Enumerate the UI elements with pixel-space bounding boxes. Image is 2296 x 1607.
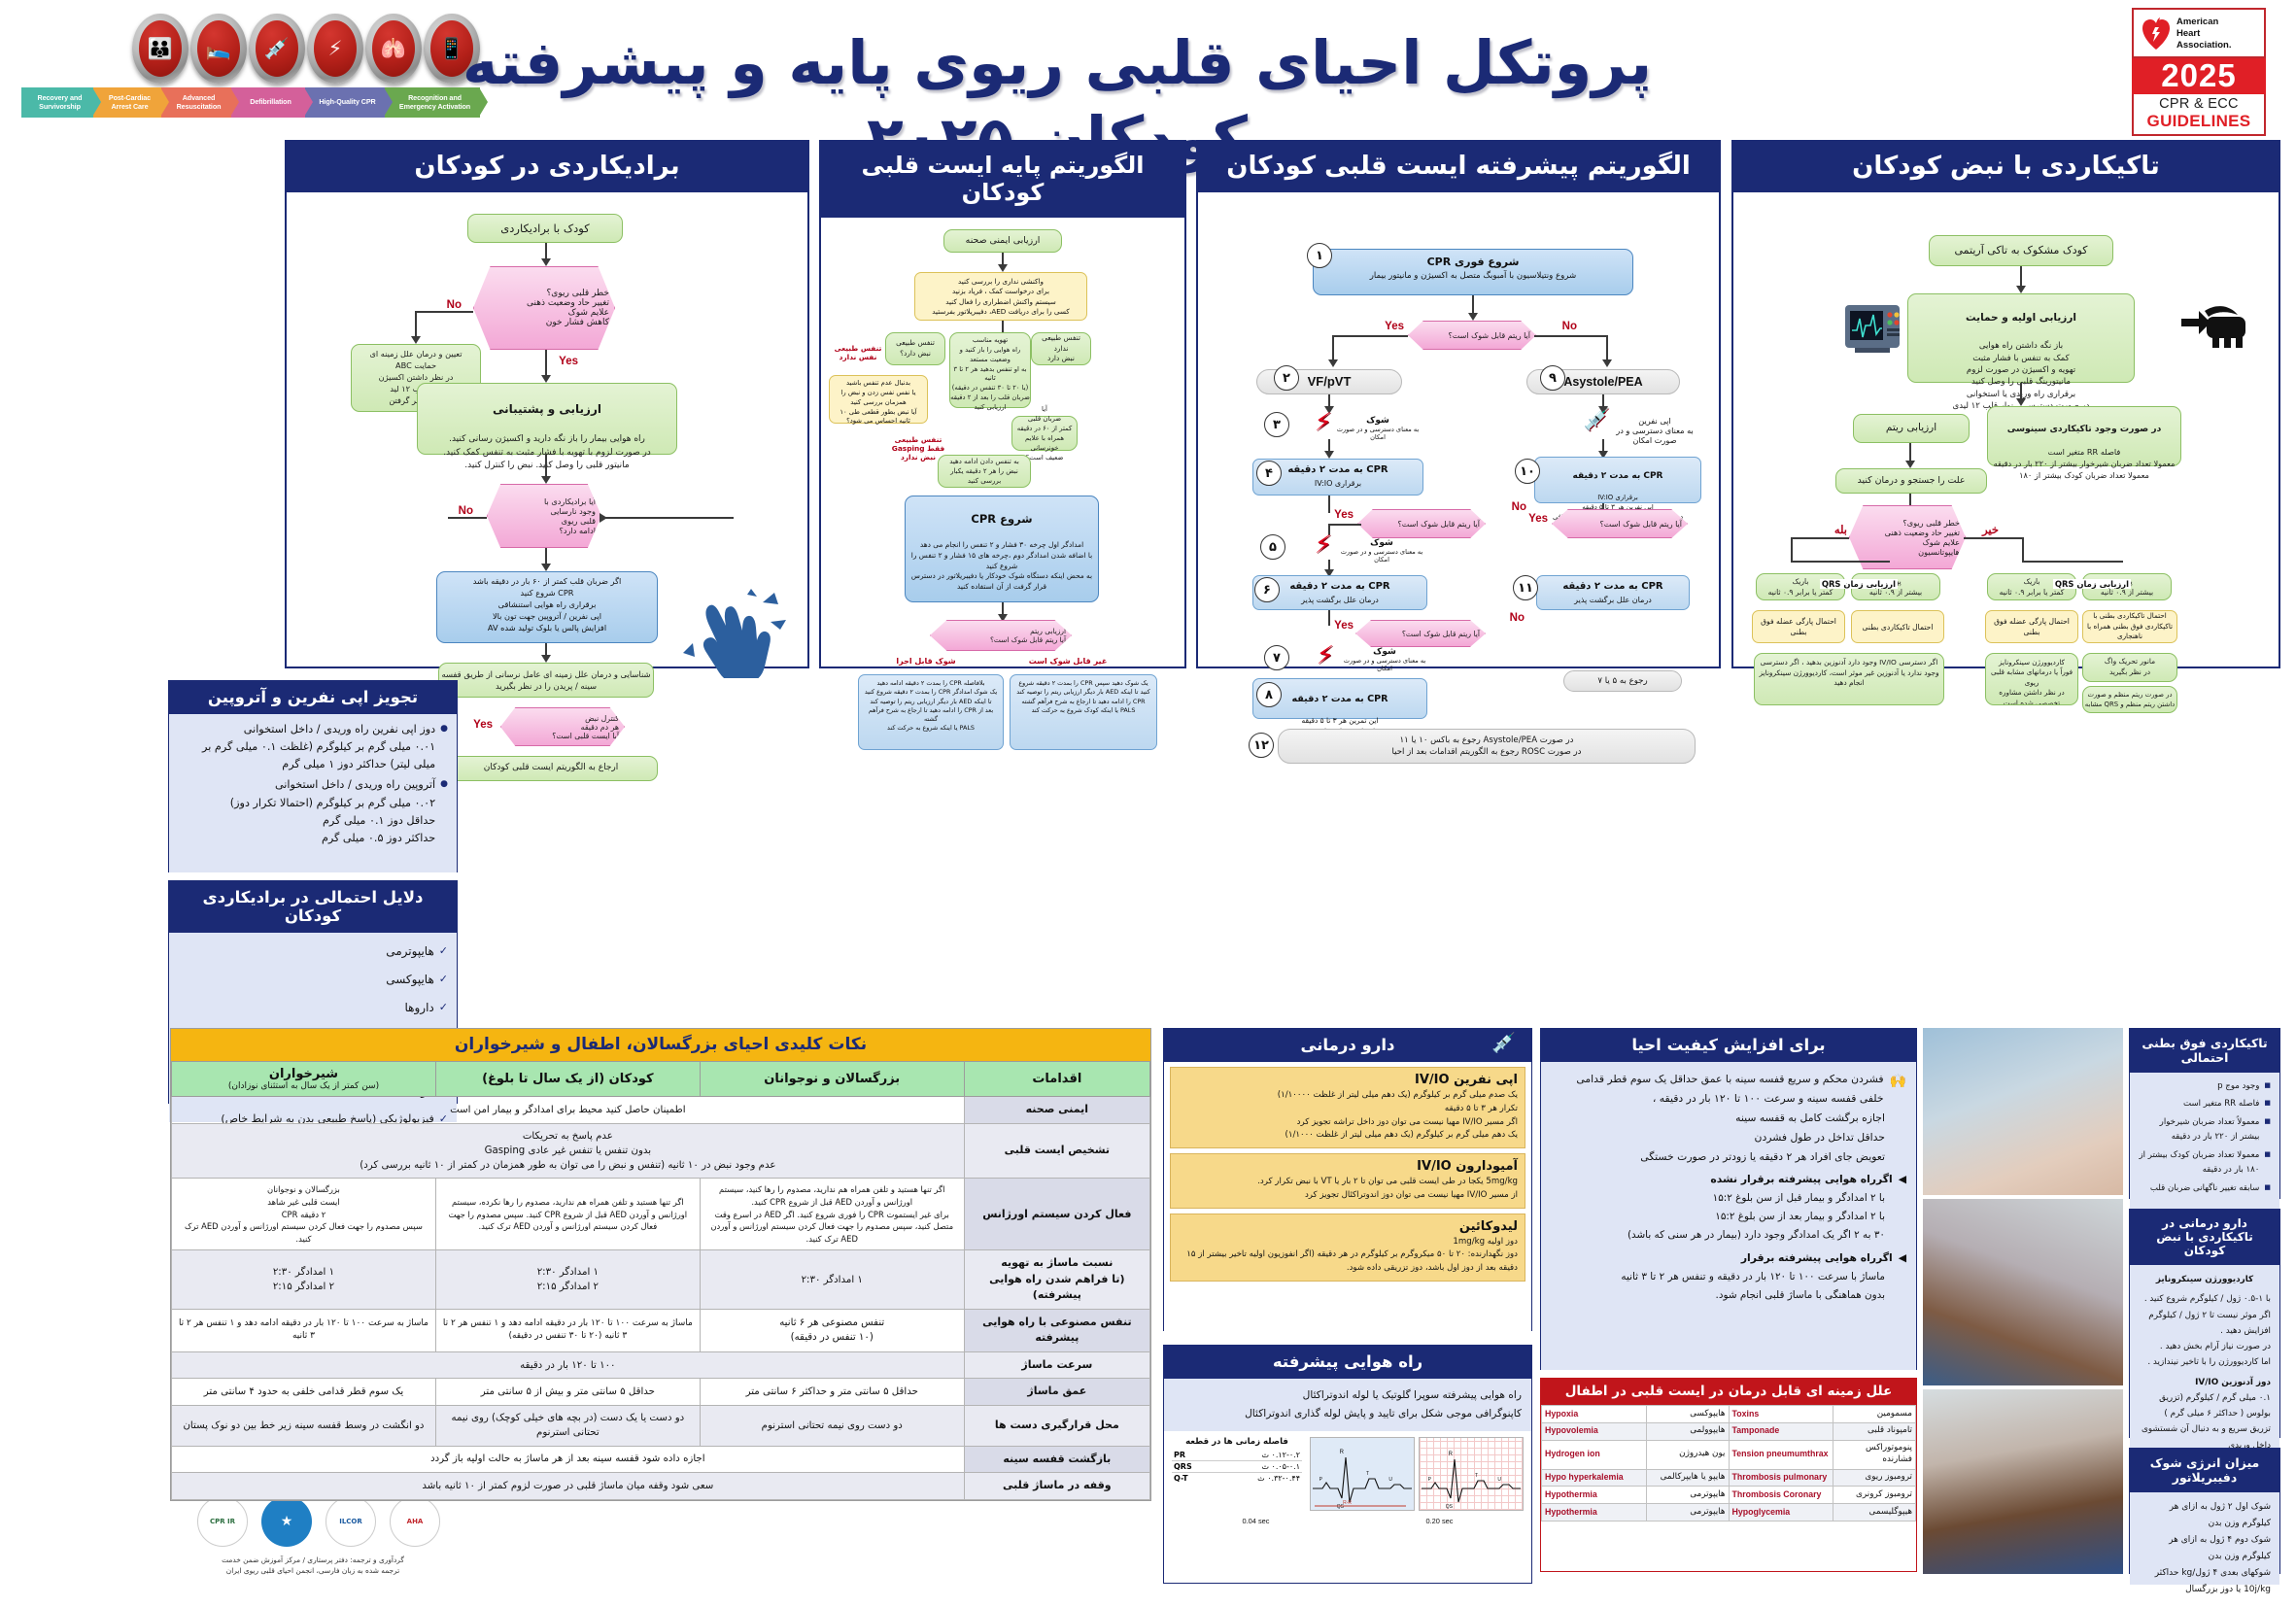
list-item: ●دوز اپی نفرین راه وریدی / داخل استخوانی… (178, 721, 448, 773)
bullet-icon: ● (440, 776, 448, 793)
brady-decision-arrest: کنترل نبض هر دم دقیقه آیا ایست قلبی است؟ (500, 707, 625, 746)
heart-bolt-icon: ⚡ (314, 20, 357, 77)
col-children: کودکان (از یک سال تا بلوغ) (435, 1062, 700, 1097)
clapping-hands-icon: 🙌 (1890, 1070, 1906, 1109)
table-row: تامپوناد قلبیTamponadeهایپوولمیHypovolem… (1542, 1422, 1916, 1440)
aha-heart-icon (2142, 17, 2171, 51)
brady-node-identify-causes: شناسایی و درمان علل زمینه ای عامل نرسانی… (438, 663, 654, 698)
ecg-monitor-icon (1841, 301, 1903, 356)
ecg-waveform-grid: R P QS T U (1419, 1437, 1524, 1511)
chest-compression-child-photo (1923, 1199, 2123, 1385)
cpr-manikin-photo (1923, 1389, 2123, 1574)
chain-coin-5: 🛌 (190, 14, 247, 84)
quality-sub2-title: ◀ اگرراه هوایی پیشرفته برقرار (1551, 1248, 1906, 1268)
table-row: هیپوگلیسمیHypoglycemiaهایپوترمیHypotherm… (1542, 1504, 1916, 1522)
acls-decision-shockable-4: آیا ریتم قابل شوک است؟ (1355, 620, 1486, 647)
tachy-qrs-label-left: ارزیابی زمان QRS (1820, 579, 1898, 589)
brady-decision-persists: آیا برادیکاردی با وجود نارسایی قلبی ریوی… (487, 484, 601, 548)
svg-text:P: P (1319, 1477, 1323, 1483)
table-row: ۰.۱۲-۰.۲ ثPR (1172, 1450, 1302, 1461)
tachy-label-no: خیر (1982, 523, 1999, 536)
svg-text:R: R (1340, 1450, 1345, 1455)
list-item: 🙌 فشردن محکم و سریع قفسه سینه با عمق حدا… (1551, 1070, 1906, 1109)
bls-node-check-pulse-breath: بدنبال عدم تنفس باشید یا نفس نفس زدن و ن… (829, 375, 928, 424)
svt-list: ■وجود موج p ■فاصله RR متغیر است ■معمولاً… (2130, 1073, 2279, 1210)
check-icon: ✓ (439, 940, 448, 963)
svg-text:U: U (1388, 1477, 1392, 1483)
tachy-node-vt-left: احتمال تاکیکاردی بطنی (1851, 610, 1944, 643)
list-item: در صورت نیاز آرام بخش دهید . (2139, 1339, 2271, 1354)
bvm-ventilation-photo (1923, 1028, 2123, 1195)
poster-header: 📱 🫁 ⚡ 💉 🛌 👪 Recognition and Emergency Ac… (0, 0, 2296, 136)
drug-therapy-title: دارو درمانی 💉 (1164, 1029, 1531, 1062)
bls-label-normal-breath: تنفس طبیعی نفس ندارد (831, 344, 885, 361)
list-item: ●آتروپین راه وریدی / داخل استخوانی ۰.۰۲ … (178, 776, 448, 847)
brady-causes-title: دلایل احتمالی در برادیکاردی کودکان (169, 881, 457, 933)
list-item: ■فاصله RR متغیر است (2139, 1097, 2271, 1111)
panel-tachycardia-body: کودک مشکوک به تاکی آریتمی ارزیابی اولیه … (1733, 192, 2279, 666)
panel-bls-arrest: الگوریتم پایه ایست قلبی کودکان ارزیابی ا… (819, 140, 1186, 668)
chain-label-5: Post-Cardiac Arrest Care (93, 87, 161, 118)
acls-step-6-num: ۶ (1254, 577, 1280, 602)
list-item: با ۱-۰.۵ ژول / کیلوگرم شروع کنید . (2139, 1291, 2271, 1307)
acls-yes-4: Yes (1334, 620, 1354, 632)
bls-node-shock-path: بلافاصله CPR را بمدت ۲ دقیقه ادامه دهید … (858, 674, 1004, 750)
panel-drug-therapy: دارو درمانی 💉 اپی نفرین IV/IO یک صدم میل… (1163, 1028, 1532, 1331)
acls-yes-1: Yes (1385, 321, 1404, 332)
table-row: ایمنی صحنه اطمینان حاصل کنید محیط برای ا… (172, 1097, 1150, 1124)
panel-advanced-arrest: الگوریتم پیشرفته ایست قلبی کودکان ۱ شروع… (1196, 140, 1721, 668)
defib-title: میزان انرژی شوک دفیبریلاتور (2130, 1449, 2279, 1492)
bls-node-continue-breaths: به تنفس دادن ادامه دهید نبض را هر ۲ دقیق… (938, 455, 1031, 488)
drug-block-amiodarone: آمیودارون IV/IO 5mg/kg یکجا در طی ایست ق… (1170, 1153, 1525, 1209)
acls-shock-label-3: شوک به معنای دسترسی و در صورت امکان (1338, 647, 1431, 672)
tachy-node-rhythm-eval: ارزیابی ریتم (1853, 414, 1970, 443)
lightning-bolt-icon-3: ⚡ (1317, 643, 1334, 668)
clapping-hands-icon (681, 589, 790, 678)
svg-text:U: U (1497, 1477, 1501, 1483)
acls-node-next-steps: در صورت Asystole/PEA رجوع به باکس ۱۰ یا … (1278, 729, 1696, 764)
quality-sub2-body: ماساژ با سرعت ۱۰۰ تا ۱۲۰ بار در دقیقه و … (1551, 1268, 1906, 1306)
svg-text:R-R: R-R (1343, 1500, 1352, 1506)
tachy-node-svt-right: احتمال پارگی عضله فوق بطنی (1985, 610, 2078, 643)
list-item: ■معمولاً تعداد ضربان شیرخوار بیشتر از ۲۲… (2139, 1115, 2271, 1145)
acls-step-9-num: ۹ (1540, 365, 1565, 391)
list-item: ✓داروها (178, 996, 448, 1021)
acls-decision-shockable-1: آیا ریتم قابل شوک است؟ (1408, 321, 1536, 350)
panel-brady-body: کودک با برادیکاردی خطر قلبی ریوی؟ تغییر … (287, 192, 807, 666)
bls-node-no-pulse: آیا ضربان قلبی کمتر از ۶۰ در دقیقه همراه… (1011, 416, 1078, 451)
triangle-icon: ◀ (1899, 1170, 1906, 1189)
chain-coin-4: 💉 (249, 14, 305, 84)
table-row: مسمومینToxinsهایپوکسیHypoxia (1542, 1406, 1916, 1423)
acls-step-2-num: ۲ (1274, 365, 1299, 391)
lungs-heart-icon: 🫁 (372, 20, 415, 77)
panel-epi-atropine: تجویز اپی نفرین و آتروپین ●دوز اپی نفرین… (168, 680, 458, 872)
table-row: ترومبوز ریویThrombosis pulmonaryهایپو یا… (1542, 1469, 1916, 1487)
ht-title: علل زمینه ای قابل درمان در ایست قلبی در … (1541, 1379, 1916, 1405)
brady-node-cpr-epi: اگر ضربان قلب کمتر از ۶۰ بار در دقیقه با… (436, 571, 658, 643)
defib-list: شوک اول ۲ ژول به ازای هر کیلوگرم وزن بدن… (2130, 1492, 2279, 1585)
brady-label-no-2: No (459, 505, 473, 517)
acls-step-1-num: ۱ (1307, 243, 1332, 268)
acls-step-8-num: ۸ (1256, 682, 1282, 707)
acls-step-4-num: ۴ (1256, 461, 1282, 486)
ecg-intervals-diagram: R P QS T U R-R (1310, 1437, 1415, 1511)
square-bullet-icon: ■ (2264, 1181, 2271, 1194)
list-item: ✓هایپوکسی (178, 968, 448, 993)
acls-epinephrine-label: اپی نفرین به معنای دسترسی و در صورت امکا… (1610, 416, 1699, 445)
reversible-causes-table: مسمومینToxinsهایپوکسیHypoxia تامپوناد قل… (1541, 1405, 1916, 1522)
panel-advanced-airway: راه هوایی پیشرفته راه هوایی پیشرفته سوپر… (1163, 1345, 1532, 1584)
svg-text:T: T (1475, 1473, 1478, 1479)
list-item: ■معمولا تعداد ضربان کودک بیشتر از ۱۸۰ با… (2139, 1148, 2271, 1179)
chain-label-3: Defibrillation (231, 87, 305, 118)
triangle-icon: ◀ (1899, 1248, 1906, 1268)
list-item: ۰.۱ میلی گرم / کیلوگرم (تزریق بولوس ( حد… (2139, 1390, 2271, 1422)
syringe-icon: 💉 (256, 20, 298, 77)
syringe-icon: 💉 (1491, 1031, 1516, 1054)
tachy-node-sinus: در صورت وجود تاکیکاردی سینوسی فاصله RR م… (1987, 406, 2181, 466)
advanced-airway-body: راه هوایی پیشرفته سوپرا گلوتیک یا لوله ا… (1164, 1379, 1531, 1431)
panel-tachycardia: تاکیکاردی با نبض کودکان کودک مشکوک به تا… (1731, 140, 2280, 668)
epi-atropine-list: ●دوز اپی نفرین راه وریدی / داخل استخوانی… (169, 714, 457, 872)
panel-reversible-causes: علل زمینه ای قابل درمان در ایست قلبی در … (1540, 1378, 1917, 1572)
square-bullet-icon: ■ (2264, 1079, 2271, 1092)
chain-coin-6: 👪 (132, 14, 188, 84)
tachy-node-sync-cardioversion: کاردیوورژن سینکرونایز فوراً یا درمانهای … (1985, 653, 2078, 705)
family-icon: 👪 (139, 20, 182, 77)
table-row: وقفه در ماساژ قلبی سعی شود وقفه میان ماس… (172, 1473, 1150, 1500)
list-item: اجازه برگشت کامل به قفسه سینه (1551, 1109, 1906, 1128)
acls-ref-5-7: رجوع به ۵ یا ۷ (1563, 670, 1682, 692)
footnote: گردآوری و ترجمه: دفتر پرستاری / مرکز آمو… (172, 1555, 454, 1576)
panel-tachy-drugs: دارو درمانی در تاکیکاردی با نبض کودکان ک… (2129, 1209, 2280, 1438)
brady-decision-risk: خطر قلبی ریوی؟ تغییر حاد وضعیت ذهنی علای… (473, 266, 615, 350)
quality-sub1-body: با ۲ امدادگر و بیمار قبل از سن بلوغ ۱۵:۲… (1551, 1189, 1906, 1246)
panel-acls-title: الگوریتم پیشرفته ایست قلبی کودکان (1198, 142, 1719, 192)
brady-node-assess-support: ارزیابی و پشتیبانی راه هوایی بیمار را با… (417, 383, 677, 455)
acls-decision-shockable-2: آیا ریتم قابل شوک است؟ (1357, 509, 1486, 538)
list-item: شوک دوم ۴ ژول به ازای هر کیلوگرم وزن بدن (2139, 1532, 2271, 1565)
key-table-head: اقدامات بزرگسالان و نوجوانان کودکان (از … (172, 1062, 1150, 1097)
tachy-node-svt-left: احتمال پارگی عضله فوق بطنی (1752, 610, 1845, 643)
ecg-figure: R P QS T U R P QS T U R-R (1164, 1431, 1531, 1517)
brady-label-yes-2: Yes (473, 719, 493, 731)
acls-step-5-num: ۵ (1260, 534, 1285, 560)
key-table-body: ایمنی صحنه اطمینان حاصل کنید محیط برای ا… (172, 1097, 1150, 1500)
aha-cpr-line1: CPR & ECC (2134, 96, 2264, 112)
col-infants: شیرخواران (سن کمتر از یک سال به استثنای … (172, 1062, 436, 1097)
chain-label-2: High-Quality CPR (305, 87, 385, 118)
panel-probable-svt: تاکیکاردی فوق بطنی احتمالی ■وجود موج p ■… (2129, 1028, 2280, 1199)
brady-label-no-1: No (447, 299, 462, 311)
quality-body: 🙌 فشردن محکم و سریع قفسه سینه با عمق حدا… (1541, 1062, 1916, 1370)
bls-node-adequate-ventilation: تهویه مناسب راه هوایی را باز کنید و وضعی… (949, 332, 1031, 408)
tachy-label-yes: بله (1834, 523, 1847, 536)
advanced-airway-title: راه هوایی پیشرفته (1164, 1346, 1531, 1379)
tachy-node-find-cause: علت را جستجو و درمان کنید (1835, 468, 1987, 494)
organization-logos: AHA ILCOR ★ CPR IR (197, 1496, 440, 1547)
aha-cpr-ecc: CPR & ECC GUIDELINES (2132, 94, 2266, 136)
acls-decision-shockable-3: آیا ریتم قابل شوک است؟ (1552, 509, 1688, 538)
key-table-title: نکات کلیدی احیای بزرگسالان، اطفال و شیرخ… (171, 1029, 1150, 1061)
svg-text:T: T (1366, 1471, 1369, 1477)
ecg-scale-labels: 0.04 sec 0.20 sec (1164, 1517, 1531, 1529)
epi-atropine-title: تجویز اپی نفرین و آتروپین (169, 681, 457, 714)
bullet-icon: ● (440, 721, 448, 737)
american-heart-association-logo: AHA (390, 1496, 440, 1547)
bls-node-noshock-path: یک شوک دهید سپس CPR را بمدت ۲ دقیقه شروع… (1010, 674, 1157, 750)
check-icon: ✓ (439, 968, 448, 991)
panel-brady-title: برادیکاردی در کودکان (287, 142, 807, 192)
brady-node-child: کودک با برادیکاردی (467, 214, 623, 243)
chain-label-6: Recovery and Survivorship (21, 87, 93, 118)
acls-step-10-num: ۱۰ (1515, 459, 1540, 484)
table-row: نسبت ماساژ به تهویه (تا فراهم شدن راه هو… (172, 1250, 1150, 1310)
svg-text:R: R (1449, 1452, 1454, 1457)
tachy-node-adenosine-note: اگر دسترسی IV/IO وجود دارد آدنوزین بدهید… (1754, 653, 1944, 705)
acls-node-cpr-2min-3: CPR به مدت ۲ دقیقه درمان علل برگشت پذیر (1536, 575, 1690, 610)
acls-no-4: No (1510, 612, 1525, 624)
acls-shock-label-1: شوک به معنای دسترسی و در صورت امکان (1334, 416, 1422, 441)
table-row: پنوموتوراکس فشارندهTension pneumumthraxی… (1542, 1440, 1916, 1469)
bls-label-not-shockable: غیر قابل شوک است (1027, 657, 1109, 666)
tachy-qrs-label-right: ارزیابی زمان QRS (2053, 579, 2131, 589)
acls-no-2: No (1512, 501, 1526, 513)
list-item: اگر موثر نیست تا ۲ ژول / کیلوگرم افزایش … (2139, 1308, 2271, 1340)
bls-node-breathing-pulse-left: تنفس طبیعی نبض دارد؟ (885, 332, 945, 365)
acls-step-12-num: ۱۲ (1249, 733, 1274, 758)
brady-label-yes-1: Yes (559, 356, 578, 367)
hospital-bed-icon: 🛌 (197, 20, 240, 77)
tachy-node-vt-aberrant: احتمال تاکیکاردی بطنی با تاکیکاردی فوق ب… (2082, 610, 2177, 643)
table-row: تشخیص ایست قلبی عدم پاسخ به تحریکات بدون… (172, 1123, 1150, 1179)
list-item: شوک اول ۲ ژول به ازای هر کیلوگرم وزن بدن (2139, 1499, 2271, 1532)
panel-key-points-table: نکات کلیدی احیای بزرگسالان، اطفال و شیرخ… (170, 1028, 1151, 1501)
list-item: ■سابقه تغییر ناگهانی ضربان قلب (2139, 1181, 2271, 1196)
chain-coin-3: ⚡ (307, 14, 363, 84)
list-item: ■وجود موج p (2139, 1079, 2271, 1094)
tachy-drug-title: دارو درمانی در تاکیکاردی با نبض کودکان (2130, 1210, 2279, 1265)
acls-shock-label-2: شوک به معنای دسترسی و در صورت امکان (1336, 538, 1427, 564)
bls-decision-shockable: ارزیابی ریتم آیا ریتم قابل شوک است؟ (930, 620, 1072, 651)
aha-logo: AmericanHeartAssociation. 2025 CPR & ECC… (2132, 8, 2266, 136)
list-item: حداقل تداخل در طول فشردن (1551, 1128, 1906, 1147)
table-row: عمق ماساژ حداقل ۵ سانتی متر و حداکثر ۶ س… (172, 1379, 1150, 1406)
drug-block-lidocaine: لیدوکائین دوز اولیه 1mg/kg دوز نگهدارنده… (1170, 1214, 1525, 1282)
table-header-row: اقدامات بزرگسالان و نوجوانان کودکان (از … (172, 1062, 1150, 1097)
check-icon: ✓ (439, 996, 448, 1019)
list-item: اما کاردیوورژن را با تاخیر نیندازید . (2139, 1354, 2271, 1370)
aha-wordmark: AmericanHeartAssociation. (2176, 17, 2232, 51)
iranian-resuscitation-logo: CPR IR (197, 1496, 248, 1547)
table-row: ترومبوز کرونریThrombosis Coronaryهایپوتر… (1542, 1487, 1916, 1504)
bls-node-activate-ems: واکنشی نداری را بررسی کنید برای درخواست … (914, 272, 1087, 321)
bls-label-shockable: شوک قابل اجرا (887, 657, 965, 666)
lightning-bolt-icon-1: ⚡ (1315, 410, 1332, 435)
list-item: تعویض جای افراد هر ۲ دقیقه یا زودتر در ص… (1551, 1147, 1906, 1167)
square-bullet-icon: ■ (2264, 1115, 2271, 1128)
poster-root: 📱 🫁 ⚡ 💉 🛌 👪 Recognition and Emergency Ac… (0, 0, 2296, 1607)
acls-step-7-num: ۷ (1264, 645, 1289, 670)
key-points-table: اقدامات بزرگسالان و نوجوانان کودکان (از … (171, 1061, 1150, 1500)
chain-label-4: Advanced Resuscitation (161, 87, 231, 118)
table-row: فعال کردن سیستم اورژانس اگر تنها هستید و… (172, 1179, 1150, 1250)
panel-bls-body: ارزیابی ایمنی صحنه واکنشی نداری را بررسی… (821, 218, 1184, 691)
square-bullet-icon: ■ (2264, 1097, 2271, 1110)
acls-node-cpr-2min-asystole: CPR به مدت ۲ دقیقه برقراری IV:IO اپی نفر… (1534, 457, 1701, 503)
svg-text:P: P (1428, 1477, 1432, 1483)
acls-step-3-num: ۳ (1264, 412, 1289, 437)
tachy-node-regular-qrs: در صورت ریتم منظم و صورت داشتن ریتم منظم… (2082, 686, 2177, 713)
panel-cpr-quality: برای افزایش کیفیت احیا 🙌 فشردن محکم و سر… (1540, 1028, 1917, 1370)
table-row: ۰.۳۲-۰.۴۴ ثQ-T (1172, 1473, 1302, 1484)
brady-node-refer-arrest: ارجاع به الگوریتم ایست قلبی کودکان (444, 756, 658, 781)
shock-paddle-icon (2177, 297, 2249, 352)
acls-step-11-num: ۱۱ (1513, 575, 1538, 600)
ecg-interval-table: فاصله زمانی ها در قطعه ۰.۱۲-۰.۲ ثPR ۰.۰۵… (1172, 1437, 1306, 1511)
adenosine-dose-title: دوز آدنوزین IV/IO (2139, 1375, 2271, 1390)
table-row: بازگشت قفسه سینه اجازه داده شود قفسه سین… (172, 1446, 1150, 1473)
bls-node-start-cpr: شروع CPR امدادگر اول چرخه ۳۰ فشار و ۲ تن… (905, 496, 1099, 602)
tachy-node-initial-assessment: ارزیابی اولیه و حمایت باز نگه داشتن راه … (1907, 293, 2135, 383)
tachy-drug-item-0: کاردیوورژن سینکرونایز (2139, 1272, 2271, 1287)
tachy-node-vagal: مانور تحریک واگ در نظر بگیرید (2082, 653, 2177, 682)
aha-cpr-line2: GUIDELINES (2134, 112, 2264, 131)
emergency-star-of-life-logo: ★ (261, 1496, 312, 1547)
tachy-node-suspect: کودک مشکوک به تاکی آریتمی (1929, 235, 2113, 266)
acls-yes-3: Yes (1528, 513, 1548, 525)
table-row: تنفس مصنوعی با راه هوایی پیشرفته تنفس مص… (172, 1309, 1150, 1351)
bls-node-scene-safety: ارزیابی ایمنی صحنه (943, 229, 1062, 253)
list-item: شوکهای بعدی ۴ ژول/kg حداکثر 10j/kg یا دو… (2139, 1565, 2271, 1598)
table-row: ۰.۰۵-۰.۱ ثQRS (1172, 1461, 1302, 1473)
syringe-icon-epi: 💉 (1584, 410, 1610, 431)
list-item: ✓هایپوترمی (178, 940, 448, 965)
table-row: محل قرارگیری دست ها دو دست روی نیمه تحتا… (172, 1405, 1150, 1446)
panel-bls-title: الگوریتم پایه ایست قلبی کودکان (821, 142, 1184, 218)
lightning-bolt-icon-2: ⚡ (1315, 532, 1332, 558)
bls-node-breathing-pulse-right: تنفس طبیعی ندارد نبض دارد (1031, 332, 1091, 365)
acls-yes-2: Yes (1334, 509, 1354, 521)
tachy-drug-list: کاردیوورژن سینکرونایز با ۱-۰.۵ ژول / کیل… (2130, 1265, 2279, 1460)
acls-no-1: No (1562, 321, 1577, 332)
quality-title: برای افزایش کیفیت احیا (1541, 1029, 1916, 1062)
panel-tachycardia-title: تاکیکاردی با نبض کودکان (1733, 142, 2279, 192)
square-bullet-icon: ■ (2264, 1148, 2271, 1161)
acls-node-start-cpr: شروع فوری CPR شروع ونتیلاسیون با آمبوبگ … (1313, 249, 1633, 295)
svt-title: تاکیکاردی فوق بطنی احتمالی (2130, 1029, 2279, 1073)
panel-defib-energy: میزان انرژی شوک دفیبریلاتور شوک اول ۲ ژو… (2129, 1448, 2280, 1574)
drug-therapy-body: اپی نفرین IV/IO یک صدم میلی گرم بر کیلوگ… (1164, 1062, 1531, 1331)
aha-logo-box: AmericanHeartAssociation. (2132, 8, 2266, 58)
table-row: سرعت ماساژ ۱۰۰ تا ۱۲۰ بار در دقیقه (172, 1351, 1150, 1379)
aha-year: 2025 (2132, 58, 2266, 95)
col-actions: اقدامات (964, 1062, 1149, 1097)
svg-text:QS: QS (1446, 1504, 1454, 1510)
quality-sub1-title: ◀ اگرراه هوایی پیشرفته برقرار نشده (1551, 1170, 1906, 1189)
panel-bradycardia: برادیکاردی در کودکان کودک با برادیکاردی … (285, 140, 809, 668)
ilcor-logo: ILCOR (326, 1496, 376, 1547)
drug-block-epinephrine: اپی نفرین IV/IO یک صدم میلی گرم بر کیلوگ… (1170, 1067, 1525, 1148)
col-adults: بزرگسالان و نوجوانان (700, 1062, 964, 1097)
panel-acls-body: ۱ شروع فوری CPR شروع ونتیلاسیون با آمبوب… (1198, 192, 1719, 666)
